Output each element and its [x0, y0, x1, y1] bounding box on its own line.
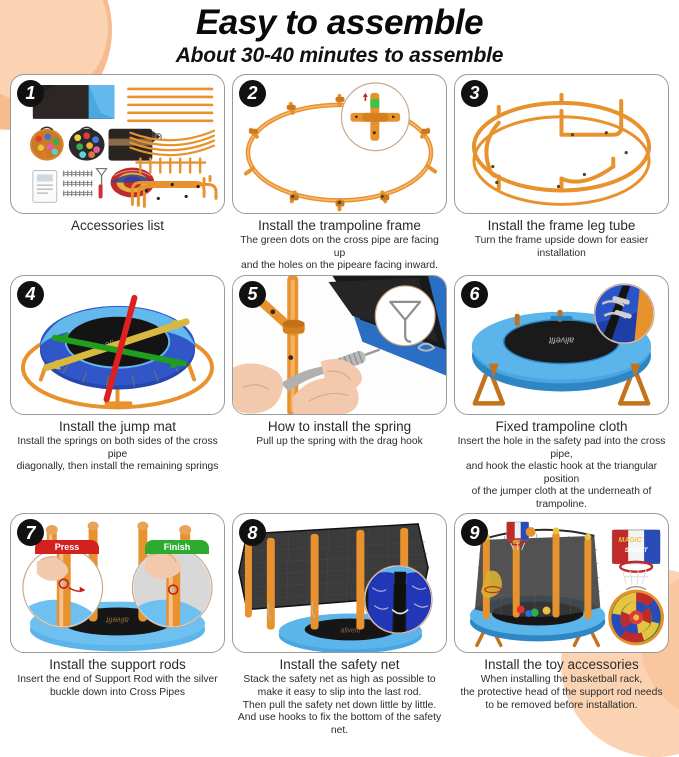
step-number-badge-1: 1 [17, 80, 44, 107]
step-card-4: 4 alivefit [10, 275, 225, 511]
step-card-2: 2 [232, 74, 447, 273]
step-title-8: Install the safety net [234, 657, 445, 673]
svg-text:MAGIC: MAGIC [619, 537, 643, 544]
step-title-5: How to install the spring [234, 419, 445, 435]
svg-text:SHOOT: SHOOT [625, 547, 649, 554]
step-image-7: 7 alivefit [10, 513, 225, 653]
basketball-hoop-toy: MAGIC SHOOT [612, 530, 660, 590]
step-caption-6: Fixed trampoline cloth Insert the hole i… [454, 415, 669, 511]
step-detail-4: Install the springs on both sides of the… [12, 436, 223, 474]
step-caption-4: Install the jump mat Install the springs… [10, 415, 225, 474]
step-caption-9: Install the toy accessories When install… [454, 653, 669, 712]
step-detail-3: Turn the frame upside down for easier in… [456, 235, 667, 260]
step-number-badge-3: 3 [461, 80, 488, 107]
step-detail-2: The green dots on the cross pipe are fac… [234, 235, 445, 273]
step-title-6: Fixed trampoline cloth [456, 419, 667, 435]
page-title: Easy to assemble [0, 4, 679, 42]
step-image-9: 9 [454, 513, 669, 653]
press-callout-tag: Press [35, 540, 99, 554]
step-image-1: 1 [10, 74, 225, 214]
step-title-9: Install the toy accessories [456, 657, 667, 673]
steps-grid: 1 [0, 68, 679, 737]
step-caption-7: Install the support rods Insert the end … [10, 653, 225, 699]
step-number-badge-2: 2 [239, 80, 266, 107]
step-card-6: 6 alivefit [454, 275, 669, 511]
step-caption-5: How to install the spring Pull up the sp… [232, 415, 447, 449]
step-number-badge-6: 6 [461, 281, 488, 308]
step-caption-3: Install the frame leg tube Turn the fram… [454, 214, 669, 260]
step-caption-2: Install the trampoline frame The green d… [232, 214, 447, 273]
step-card-5: 5 [232, 275, 447, 511]
page-header: Easy to assemble About 30-40 minutes to … [0, 0, 679, 68]
svg-text:alivefit: alivefit [548, 335, 574, 345]
step-detail-9: When installing the basketball rack, the… [456, 674, 667, 712]
step-card-3: 3 [454, 74, 669, 273]
finish-callout-tag: Finish [145, 540, 209, 554]
step-detail-7: Insert the end of Support Rod with the s… [12, 674, 223, 699]
step-title-2: Install the trampoline frame [234, 218, 445, 234]
dartboard-toy [608, 590, 664, 646]
step-detail-8: Stack the safety net as high as possible… [234, 674, 445, 737]
step-number-badge-5: 5 [239, 281, 266, 308]
step-card-1: 1 [10, 74, 225, 273]
step-title-7: Install the support rods [12, 657, 223, 673]
step-image-5: 5 [232, 275, 447, 415]
page-subtitle: About 30-40 minutes to assemble [0, 44, 679, 68]
step-detail-5: Pull up the spring with the drag hook [234, 436, 445, 449]
step-detail-6: Insert the hole in the safety pad into t… [456, 436, 667, 511]
step-card-8: 8 alivefit [232, 513, 447, 737]
step-caption-1: Accessories list [10, 214, 225, 235]
step-title-4: Install the jump mat [12, 419, 223, 435]
step-image-3: 3 [454, 74, 669, 214]
step-image-4: 4 alivefit [10, 275, 225, 415]
step-title-3: Install the frame leg tube [456, 218, 667, 234]
step-image-6: 6 alivefit [454, 275, 669, 415]
step-title-1: Accessories list [12, 218, 223, 234]
step-card-9: 9 [454, 513, 669, 737]
svg-text:alivefit: alivefit [105, 616, 128, 625]
step-image-8: 8 alivefit [232, 513, 447, 653]
step-caption-8: Install the safety net Stack the safety … [232, 653, 447, 737]
step-number-badge-4: 4 [17, 281, 44, 308]
step-image-2: 2 [232, 74, 447, 214]
step-card-7: 7 alivefit [10, 513, 225, 737]
